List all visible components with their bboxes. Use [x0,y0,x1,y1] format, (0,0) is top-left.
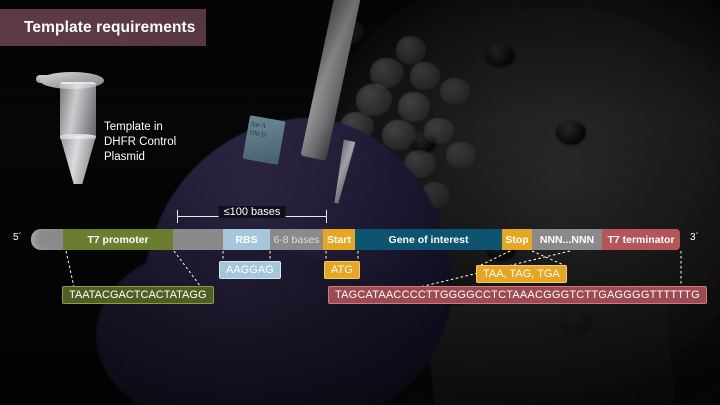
slide-title-band: Template requirements [0,9,206,46]
eppendorf-tube-icon [52,72,104,184]
three-prime-label: 3´ [690,232,699,243]
background-photo: Sar A100 D [0,0,720,405]
segment-spacer-mid [173,229,223,250]
segment-stop-codon[interactable]: Stop [502,229,532,250]
segment-nnn-spacer[interactable]: NNN...NNN [532,229,602,250]
callout-rbs-sequence: AAGGAG [219,261,281,279]
segment-t7-terminator[interactable]: T7 terminator [602,229,680,250]
photo-darken-overlay [0,0,720,405]
slide-canvas: Sar A100 D Template requirements Templat… [0,0,720,405]
tube-caption-line1: Template in [104,120,176,135]
callout-stop-sequence: TAA, TAG, TGA [476,265,567,283]
callout-start-sequence: ATG [324,261,360,279]
tube-cone [60,136,96,184]
dna-construct-bar: T7 promoter RBS 6-8 bases Start Gene of … [31,229,680,250]
segment-t7-promoter[interactable]: T7 promoter [63,229,173,250]
segment-rbs[interactable]: RBS [223,229,270,250]
bracket-right-cap [326,210,327,223]
segment-spacer-left [31,229,63,250]
segment-spacer-6-8-bases: 6-8 bases [270,229,323,250]
callout-terminator-sequence: TAGCATAACCCCTTGGGGCCTCTAAACGGGTCTTGAGGGG… [328,286,707,304]
callout-promoter-sequence: TAATACGACTCACTATAGG [62,286,214,304]
tube-body [60,82,96,139]
tube-caption-line2: DHFR Control [104,135,176,150]
segment-start-codon[interactable]: Start [323,229,355,250]
five-prime-label: 5´ [13,232,22,243]
tube-caption-line3: Plasmid [104,150,176,165]
bracket-label: ≤100 bases [219,206,286,218]
bases-measure-bracket: ≤100 bases [177,206,327,226]
segment-gene-of-interest[interactable]: Gene of interest [355,229,502,250]
page-title: Template requirements [0,19,196,37]
tube-caption: Template in DHFR Control Plasmid [104,120,176,165]
